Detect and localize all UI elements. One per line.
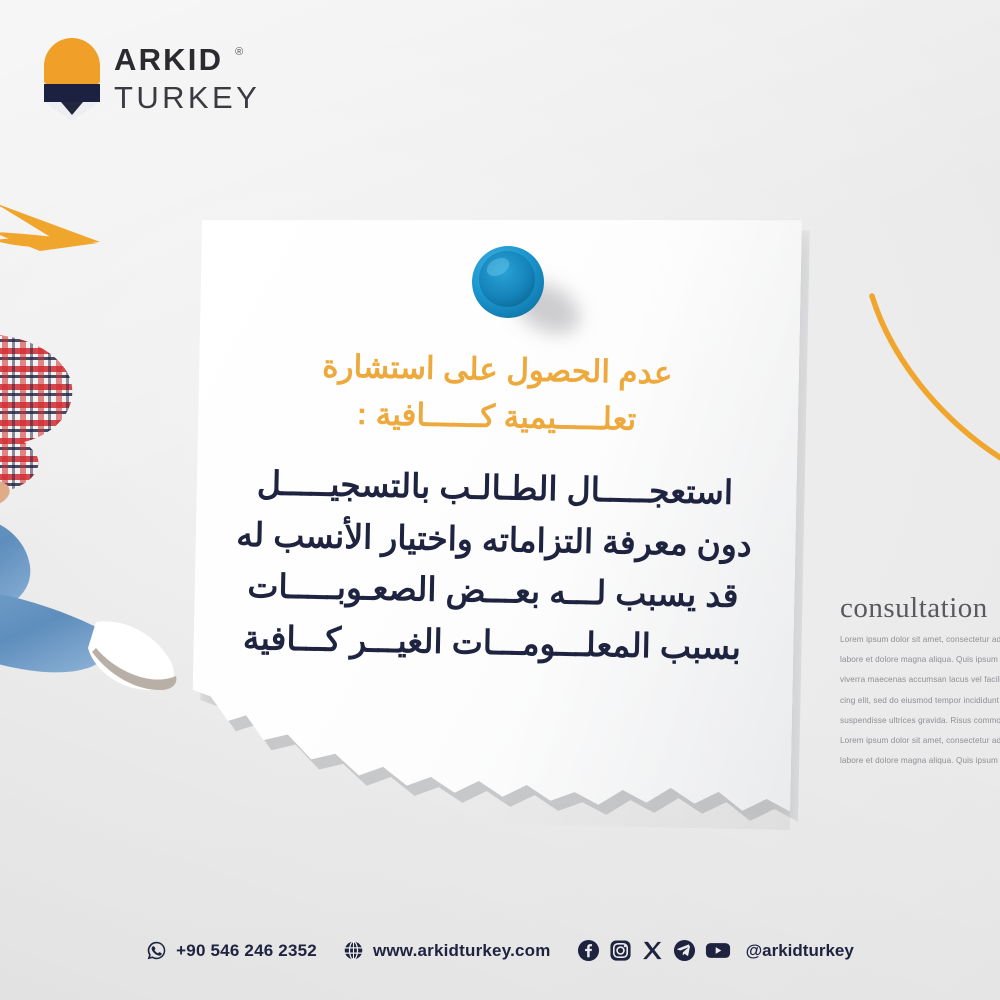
whatsapp-icon[interactable] [146, 940, 167, 961]
jumping-person-photo [0, 330, 214, 730]
registered-mark-icon: ® [235, 47, 243, 58]
footer-website[interactable]: www.arkidturkey.com [343, 940, 551, 961]
side-paragraph-line: labore et dolore magna aliqua. Quis ipsu… [840, 757, 1000, 765]
orange-arc-decor-icon [850, 290, 1000, 480]
note-heading-line: تعلـــــيمية كــــــافية : [218, 388, 775, 446]
poster-canvas: ARKID ® TURKEY [0, 0, 1000, 1000]
footer-website-url: www.arkidturkey.com [373, 941, 551, 961]
side-paragraph-line: viverra maecenas accumsan lacus vel faci… [840, 676, 1000, 684]
logo-dome-shape [44, 38, 100, 84]
side-text-block: consultation Lorem ipsum dolor sit amet,… [840, 592, 1000, 777]
side-paragraph-line: labore et dolore magna aliqua. Quis ipsu… [840, 656, 1000, 664]
brand-logo[interactable]: ARKID ® TURKEY [44, 38, 260, 118]
logo-wordmark: ARKID ® TURKEY [114, 44, 260, 113]
globe-icon[interactable] [343, 940, 364, 961]
side-paragraph-line: Lorem ipsum dolor sit amet, consectetur … [840, 636, 1000, 644]
x-icon[interactable] [641, 939, 664, 962]
footer-social-handle: @arkidturkey [746, 941, 854, 961]
side-paragraph-line: suspendisse ultrices gravida. Risus comm… [840, 717, 1000, 725]
footer-phone[interactable]: +90 546 246 2352 [146, 940, 317, 961]
side-paragraph-line: Lorem ipsum dolor sit amet, consectetur … [840, 737, 1000, 745]
instagram-icon[interactable] [609, 939, 632, 962]
telegram-icon[interactable] [673, 939, 696, 962]
note-heading: عدم الحصول على استشارة تعلـــــيمية كـــ… [196, 340, 798, 446]
note-body: استعجـــــال الطـالـب بالتسجيـــــل دون … [192, 456, 796, 674]
facebook-icon[interactable] [577, 939, 600, 962]
logo-name-secondary: TURKEY [114, 82, 260, 113]
logo-mark-icon [44, 38, 100, 118]
footer-contact-bar: +90 546 246 2352 www.arkidturkey.com [0, 939, 1000, 962]
footer-phone-number: +90 546 246 2352 [176, 941, 317, 961]
footer-social-icons: @arkidturkey [577, 939, 854, 962]
youtube-icon[interactable] [705, 939, 731, 962]
side-paragraph: Lorem ipsum dolor sit amet, consectetur … [840, 636, 1000, 765]
logo-band-shape [44, 84, 100, 102]
side-heading: consultation [840, 592, 1000, 625]
logo-name-primary: ARKID [114, 44, 223, 75]
side-paragraph-line: cing elit, sed do eiusmod tempor incidid… [840, 697, 1000, 705]
pushpin-icon [470, 243, 546, 319]
logo-tail-inner-shape [61, 102, 83, 115]
orange-arrow-swoosh-icon [0, 196, 102, 266]
